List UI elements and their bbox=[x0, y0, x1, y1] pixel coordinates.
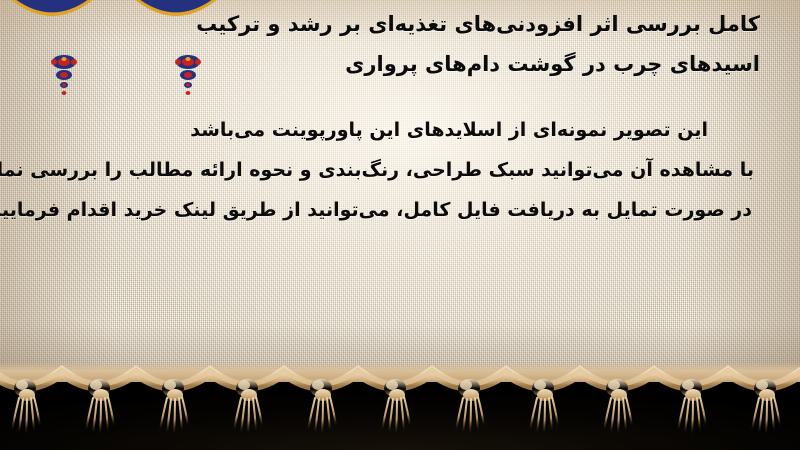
slide-body: این تصویر نمونه‌ای از اسلایدهای این پاور… bbox=[40, 110, 764, 230]
title-line-1: کامل بررسی اثر افزودنی‌های تغذیه‌ای بر ر… bbox=[40, 4, 760, 44]
body-line-1: این تصویر نمونه‌ای از اسلایدهای این پاور… bbox=[40, 110, 764, 150]
slide-title: کامل بررسی اثر افزودنی‌های تغذیه‌ای بر ر… bbox=[40, 4, 760, 84]
body-line-2: با مشاهده آن می‌توانید سبک طراحی، رنگ‌بن… bbox=[40, 150, 764, 190]
slide-canvas: کامل بررسی اثر افزودنی‌های تغذیه‌ای بر ر… bbox=[0, 0, 800, 450]
knotted-tassel-fringe-icon bbox=[0, 358, 800, 450]
body-line-3: در صورت تمایل به دریافت فایل کامل، می‌تو… bbox=[40, 190, 764, 230]
title-line-2: اسیدهای چرب در گوشت دام‌های پرواری bbox=[40, 44, 760, 84]
